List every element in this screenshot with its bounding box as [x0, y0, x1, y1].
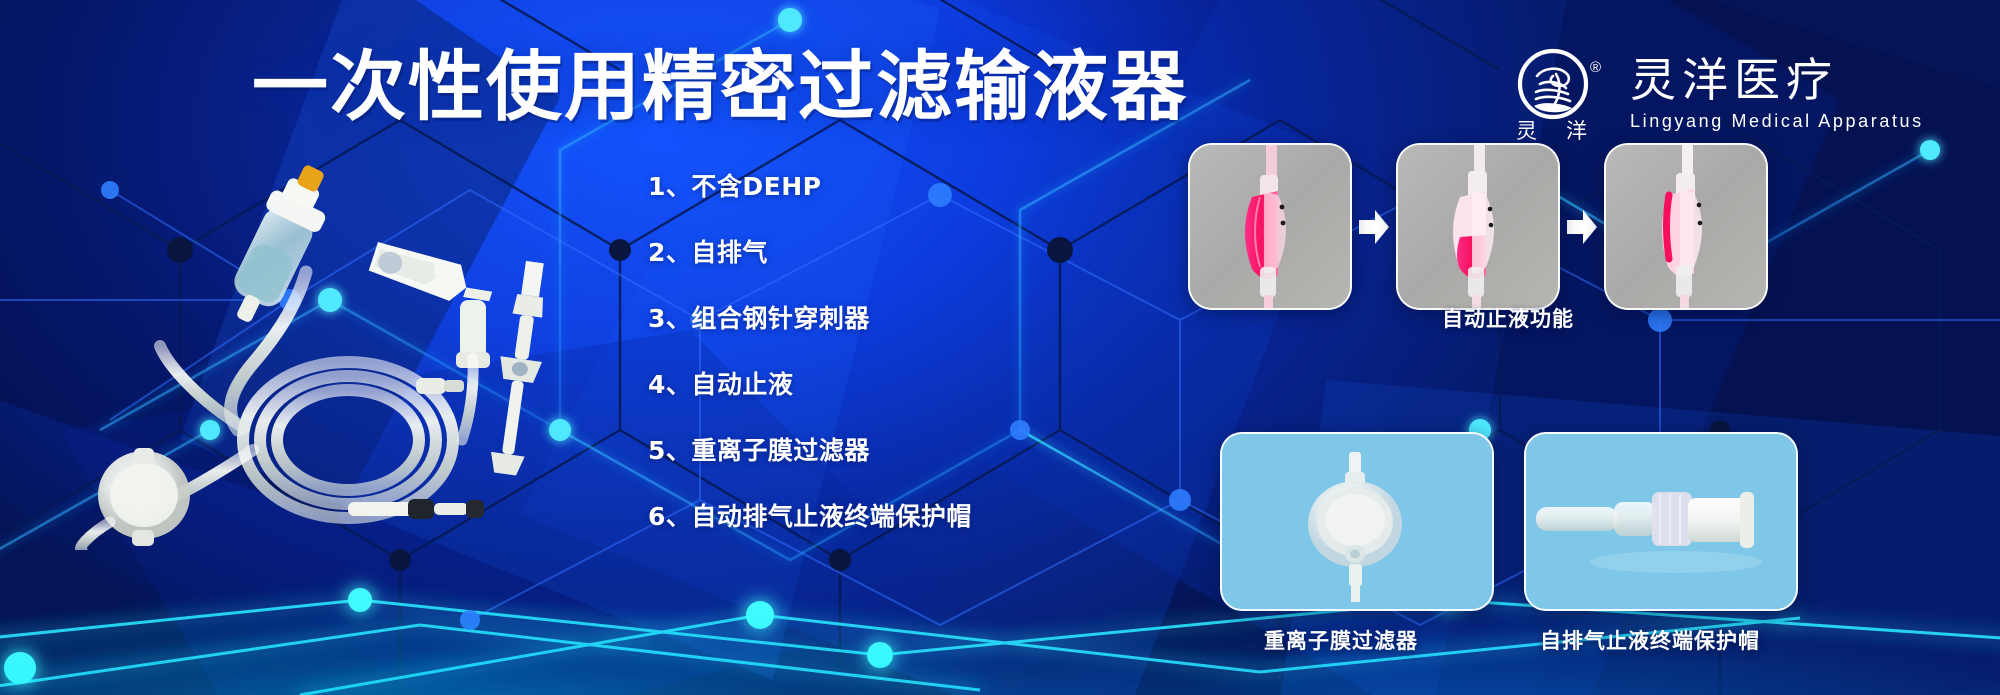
logo-name-en: Lingyang Medical Apparatus [1630, 109, 1924, 133]
right-arrow-icon-2 [1560, 145, 1604, 308]
feature-item-2: 2、自排气 [648, 238, 978, 268]
logo-emblem-icon: ® 灵 洋 [1510, 46, 1604, 142]
feature-list: 1、不含DEHP 2、自排气 3、组合钢针穿刺器 4、自动止液 5、重离子膜过滤… [648, 172, 978, 532]
logo-name-cn: 灵洋医疗 [1630, 55, 1924, 105]
feature-item-4: 4、自动止液 [648, 370, 978, 400]
sequence-frame-2 [1396, 143, 1560, 310]
caption-auto-stop: 自动止液功能 [1442, 306, 1574, 332]
caption-cap: 自排气止液终端保护帽 [1540, 628, 1760, 654]
feature-item-6: 6、自动排气止液终端保护帽 [648, 502, 978, 532]
feature-item-1: 1、不含DEHP [648, 172, 978, 202]
svg-text:洋: 洋 [1566, 119, 1587, 142]
detail-panel-cap [1524, 432, 1798, 611]
detail-panel-filter [1220, 432, 1494, 611]
product-banner: 一次性使用精密过滤输液器 ® 灵 洋 灵洋医疗 Lingyang Medi [0, 0, 2000, 695]
auto-stop-sequence [1188, 143, 1768, 310]
detail-panels [1220, 432, 1798, 611]
svg-text:灵: 灵 [1516, 119, 1537, 142]
caption-filter: 重离子膜过滤器 [1264, 628, 1418, 654]
sequence-frame-3 [1604, 143, 1768, 310]
feature-item-3: 3、组合钢针穿刺器 [648, 304, 978, 334]
right-arrow-icon-1 [1352, 145, 1396, 308]
product-photo [48, 150, 648, 550]
brand-logo: ® 灵 洋 灵洋医疗 Lingyang Medical Apparatus [1510, 46, 1924, 142]
svg-text:®: ® [1590, 59, 1601, 76]
sequence-frame-1 [1188, 143, 1352, 310]
page-title: 一次性使用精密过滤输液器 [252, 44, 1188, 130]
feature-item-5: 5、重离子膜过滤器 [648, 436, 978, 466]
